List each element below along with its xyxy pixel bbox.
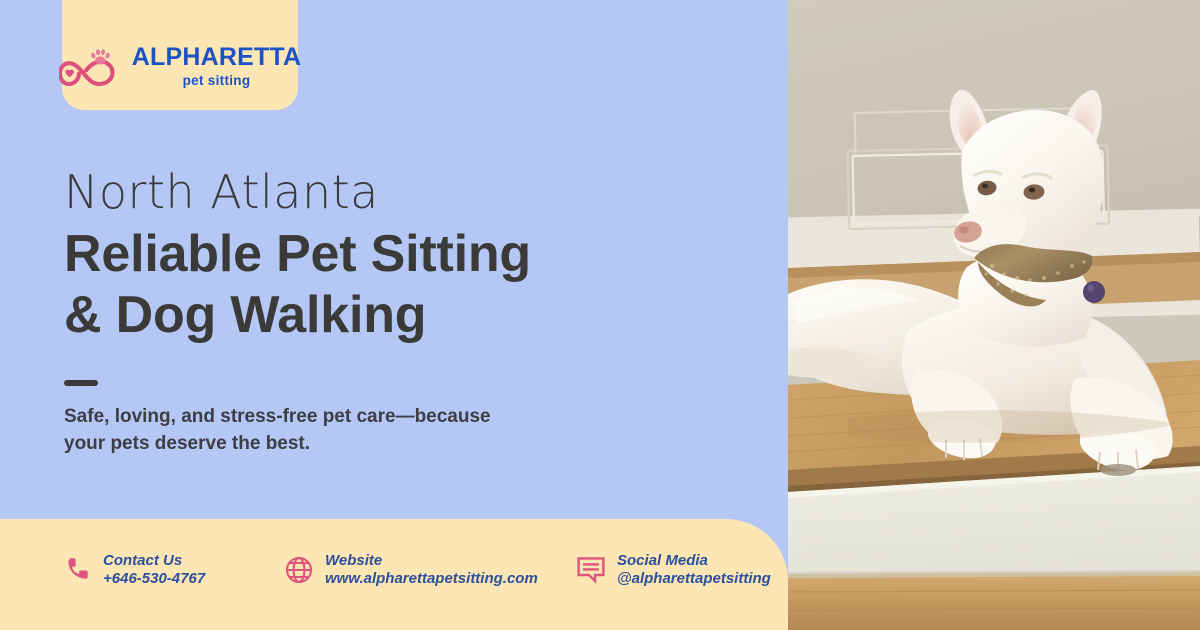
- page-title: Reliable Pet Sitting & Dog Walking: [64, 224, 704, 345]
- logo-wordmark: ALPHARETTA pet sitting: [132, 45, 302, 88]
- contact-social-text: Social Media @alpharettapetsitting: [617, 552, 771, 589]
- contact-item-phone[interactable]: Contact Us +646-530-4767: [62, 552, 205, 589]
- contact-social-value[interactable]: @alpharettapetsitting: [617, 570, 771, 588]
- banner-root: ALPHARETTA pet sitting North Atlanta Rel…: [0, 0, 1200, 630]
- contact-website-text: Website www.alpharettapetsitting.com: [325, 552, 538, 589]
- hero-text-block: North Atlanta Reliable Pet Sitting & Dog…: [64, 168, 704, 477]
- hero-eyebrow: North Atlanta: [64, 168, 704, 216]
- globe-icon: [284, 555, 314, 585]
- hero-subtitle: Safe, loving, and stress-free pet care—b…: [64, 404, 534, 458]
- logo-title: ALPHARETTA: [132, 45, 302, 70]
- contact-item-social[interactable]: Social Media @alpharettapetsitting: [576, 552, 771, 589]
- contact-phone-label: Contact Us: [103, 552, 205, 570]
- divider-dash: [64, 380, 98, 386]
- headline-line-2: & Dog Walking: [64, 285, 704, 345]
- subtitle-line-2: your pets deserve the best.: [64, 431, 534, 458]
- logo-card[interactable]: ALPHARETTA pet sitting: [62, 0, 298, 110]
- left-content-panel: ALPHARETTA pet sitting North Atlanta Rel…: [0, 0, 788, 630]
- phone-icon: [62, 555, 92, 585]
- logo-lockup: ALPHARETTA pet sitting: [59, 44, 302, 88]
- contact-phone-value[interactable]: +646-530-4767: [103, 570, 205, 588]
- speech-bubble-icon: [576, 555, 606, 585]
- contact-website-label: Website: [325, 552, 538, 570]
- hero-photo-dog-on-stairs: [788, 0, 1200, 630]
- contact-social-label: Social Media: [617, 552, 771, 570]
- subtitle-line-1: Safe, loving, and stress-free pet care—b…: [64, 404, 534, 431]
- infinity-heart-paw-icon: [59, 44, 125, 88]
- contact-website-value[interactable]: www.alpharettapetsitting.com: [325, 570, 538, 588]
- headline-line-1: Reliable Pet Sitting: [64, 224, 704, 284]
- contact-phone-text: Contact Us +646-530-4767: [103, 552, 205, 589]
- logo-subtitle: pet sitting: [183, 74, 251, 88]
- dog-photo-illustration: [788, 0, 1200, 630]
- contact-item-website[interactable]: Website www.alpharettapetsitting.com: [284, 552, 538, 589]
